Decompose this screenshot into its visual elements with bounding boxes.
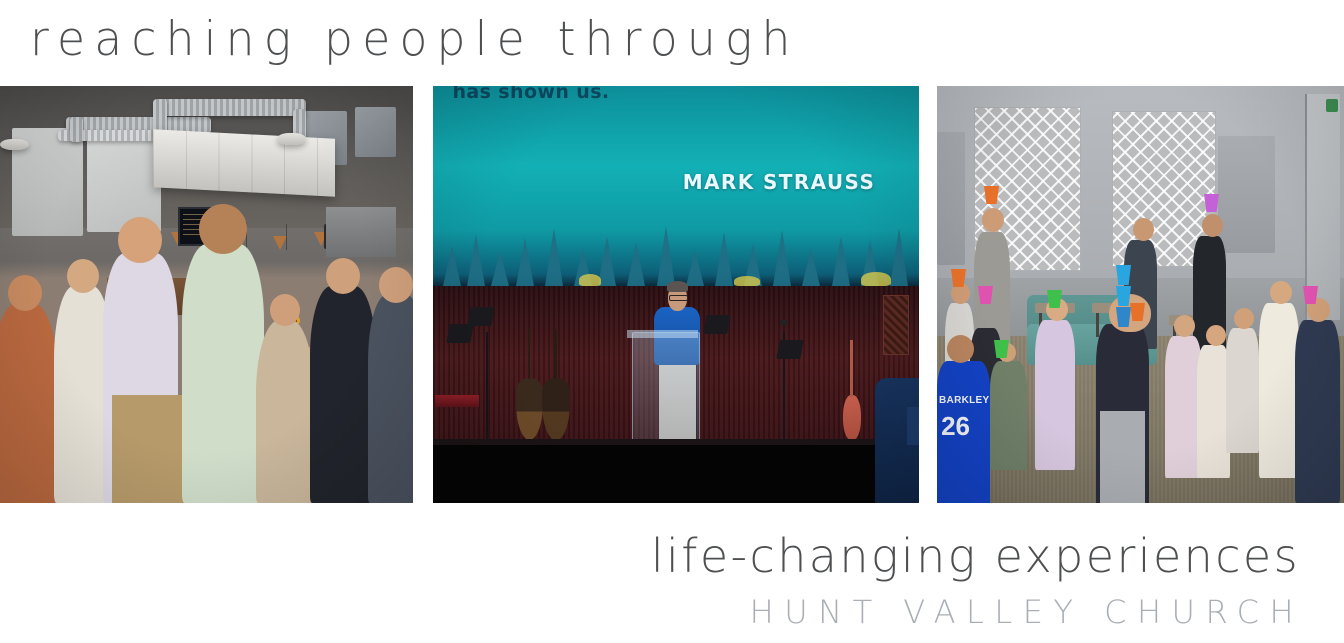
photo-kids-cup-game: BARKLEY 26 [937, 86, 1344, 503]
tree-shape [598, 236, 616, 286]
child-figure [990, 361, 1027, 469]
person-trousers [112, 395, 186, 503]
speaker-glasses [669, 295, 688, 302]
stage-monitor [776, 340, 804, 359]
person-head [199, 204, 247, 254]
stage-monitor [704, 315, 732, 334]
person-head [379, 267, 413, 303]
stage-monitor [468, 307, 496, 326]
stacked-cup [1116, 286, 1131, 306]
stage-scene: has shown us. [433, 86, 919, 503]
tree-shape [890, 228, 908, 286]
tree-shape [657, 226, 675, 286]
stacked-cup [1116, 265, 1131, 285]
acrylic-podium [632, 332, 700, 447]
headline-top: reaching people through [30, 8, 800, 72]
person-head [1133, 218, 1154, 241]
organization-name: HUNT VALLEY CHURCH [750, 592, 1304, 632]
keyboard-instrument [435, 395, 479, 408]
child-figure [1259, 303, 1300, 478]
foliage-shape [734, 276, 760, 286]
person-head [1206, 325, 1226, 346]
auditorium-chair [907, 407, 919, 445]
person-head [1109, 294, 1151, 332]
pendant-light [273, 236, 287, 250]
photo-lobby-fellowship [0, 86, 413, 503]
person-figure [310, 286, 376, 503]
air-diffuser-large [153, 129, 335, 197]
person-head [1270, 281, 1292, 304]
tree-shape [443, 246, 461, 286]
jersey-number-text: 26 [941, 411, 970, 442]
person-figure [0, 303, 58, 503]
air-diffuser [277, 133, 306, 146]
air-diffuser [0, 139, 29, 150]
tree-shape [832, 236, 850, 286]
person-figure-foreground [182, 244, 265, 503]
person-head [326, 258, 360, 294]
foliage-shape [861, 272, 891, 286]
tree-shape [467, 234, 485, 286]
stacked-cup [1047, 290, 1062, 308]
child-figure [1165, 336, 1202, 478]
photo-stage-speaker: has shown us. [433, 86, 919, 503]
child-figure [1295, 320, 1340, 503]
podium-ledge [627, 330, 697, 338]
person-head [947, 335, 974, 363]
person-head [982, 208, 1004, 232]
person-head [8, 275, 42, 311]
person-figure [368, 295, 413, 504]
child-figure [1226, 328, 1259, 453]
lobby-scene [0, 86, 413, 503]
jersey-name-text: BARKLEY [939, 395, 989, 406]
person-head [67, 259, 99, 293]
projection-screen: has shown us. [433, 86, 919, 286]
wall-panel [1218, 136, 1275, 253]
person-head [118, 217, 162, 263]
duct-elbow [70, 117, 82, 142]
doorway [1305, 94, 1340, 319]
stage-grille [883, 295, 909, 355]
tree-shape [516, 238, 534, 286]
electric-guitar [843, 395, 860, 441]
duct-segment [157, 99, 306, 117]
adult-trousers [1100, 411, 1145, 503]
headline-bottom: life-changing experiences [651, 528, 1300, 584]
wall-panel [937, 132, 965, 265]
photo-strip: has shown us. [0, 86, 1344, 503]
tree-shape [802, 248, 820, 286]
stage-front [433, 445, 919, 503]
slide-top-text: has shown us. [452, 86, 609, 103]
tree-shape [545, 228, 563, 286]
exit-sign [1326, 99, 1338, 112]
kids-room-scene: BARKLEY 26 [937, 86, 1344, 503]
stage-monitor [446, 324, 474, 343]
stacked-cup [994, 340, 1009, 358]
poster-canvas: reaching people through [0, 0, 1344, 643]
child-figure [1035, 320, 1076, 470]
wall-panel [355, 107, 396, 157]
mic-stand [486, 332, 488, 440]
tree-shape [773, 230, 791, 286]
tree-shape [491, 252, 509, 286]
speaker-hair [667, 281, 688, 292]
tree-shape [686, 250, 704, 286]
slide-treeline-graphic [433, 142, 919, 286]
tree-shape [627, 242, 645, 286]
microphone [780, 320, 787, 325]
tree-shape [715, 232, 733, 286]
person-figure [256, 320, 314, 503]
foliage-shape [579, 274, 601, 286]
wall-graphic [326, 207, 396, 257]
person-head [270, 294, 300, 326]
slide-speaker-name: MARK STRAUSS [683, 170, 876, 194]
person-head [1202, 214, 1223, 237]
stacked-cup [1116, 307, 1131, 327]
